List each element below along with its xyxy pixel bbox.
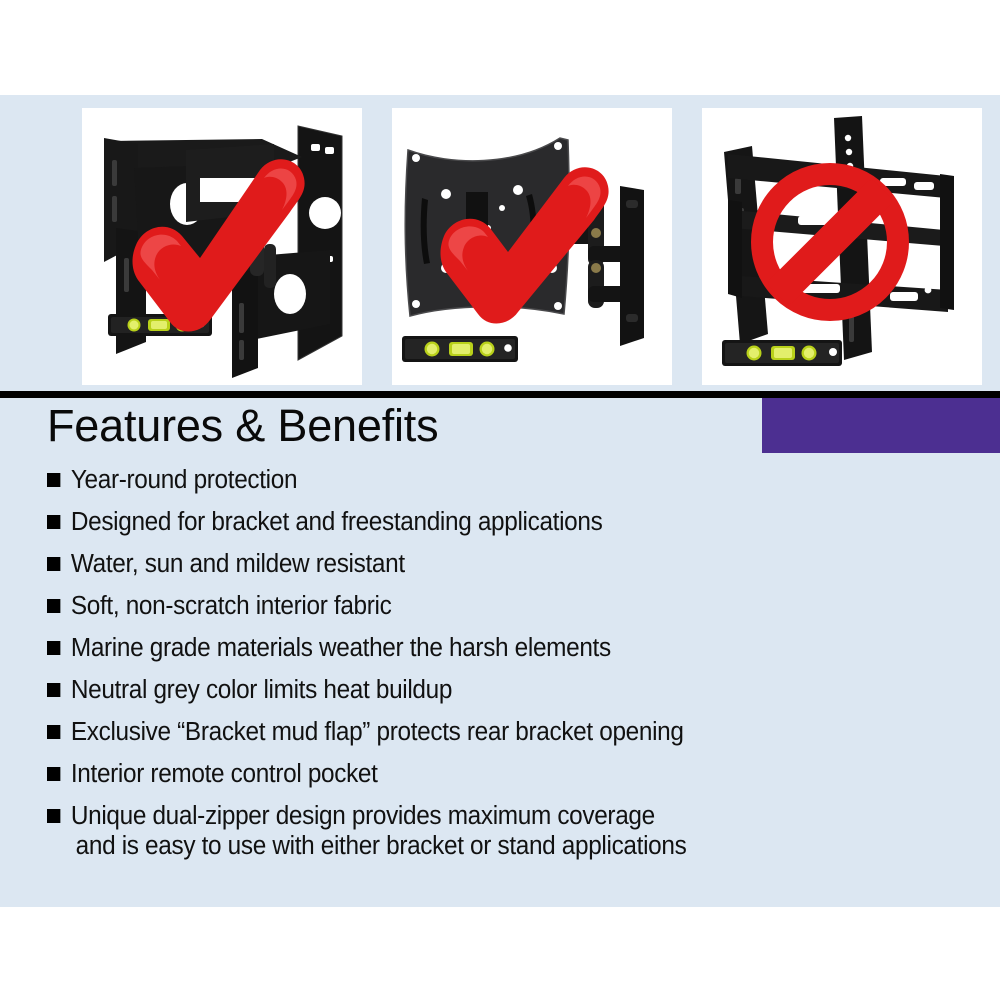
- product-photo-full-motion-mount: [82, 108, 362, 385]
- features-list: Year-round protection Designed for brack…: [47, 465, 847, 873]
- list-item-label: Soft, non-scratch interior fabric: [71, 592, 392, 620]
- list-item: Designed for bracket and freestanding ap…: [47, 507, 811, 537]
- bubble-level-icon: [722, 340, 842, 366]
- list-item-label-line2: and is easy to use with either bracket o…: [71, 831, 811, 861]
- list-item: Soft, non-scratch interior fabric: [47, 591, 811, 621]
- bullet-square-icon: [47, 725, 60, 739]
- product-photo-row: [82, 108, 990, 385]
- list-item-label: Interior remote control pocket: [71, 760, 378, 788]
- list-item-label: Exclusive “Bracket mud flap” protects re…: [71, 718, 684, 746]
- list-item: Unique dual-zipper design provides maxim…: [47, 801, 811, 861]
- bullet-square-icon: [47, 641, 60, 655]
- list-item: Water, sun and mildew resistant: [47, 549, 811, 579]
- list-item-label: Year-round protection: [71, 466, 297, 494]
- list-item-label: Marine grade materials weather the harsh…: [71, 634, 611, 662]
- tilting-low-profile-tv-mount-illustration: [702, 108, 982, 385]
- full-motion-articulating-tv-mount-illustration: [82, 108, 362, 385]
- list-item: Exclusive “Bracket mud flap” protects re…: [47, 717, 811, 747]
- list-item: Neutral grey color limits heat buildup: [47, 675, 811, 705]
- list-item-label: Neutral grey color limits heat buildup: [71, 676, 452, 704]
- list-item-label: Unique dual-zipper design provides maxim…: [71, 802, 655, 830]
- bullet-square-icon: [47, 515, 60, 529]
- bullet-square-icon: [47, 767, 60, 781]
- bubble-level-icon: [402, 336, 518, 362]
- section-divider: [0, 391, 1000, 398]
- bullet-square-icon: [47, 809, 60, 823]
- page-title: Features & Benefits: [47, 399, 438, 453]
- bullet-square-icon: [47, 557, 60, 571]
- list-item: Marine grade materials weather the harsh…: [47, 633, 811, 663]
- list-item-label: Designed for bracket and freestanding ap…: [71, 508, 603, 536]
- bullet-square-icon: [47, 683, 60, 697]
- product-feature-sheet: Features & Benefits Year-round protectio…: [0, 0, 1000, 1000]
- bullet-square-icon: [47, 473, 60, 487]
- content-panel: Features & Benefits Year-round protectio…: [0, 95, 1000, 907]
- list-item: Interior remote control pocket: [47, 759, 811, 789]
- product-photo-tilting-mount: [702, 108, 982, 385]
- purple-accent-block: [762, 398, 1000, 453]
- list-item-label: Water, sun and mildew resistant: [71, 550, 405, 578]
- product-photo-swivel-arm-mount: [392, 108, 672, 385]
- list-item: Year-round protection: [47, 465, 811, 495]
- swivel-arm-tv-mount-illustration: [392, 108, 672, 385]
- bullet-square-icon: [47, 599, 60, 613]
